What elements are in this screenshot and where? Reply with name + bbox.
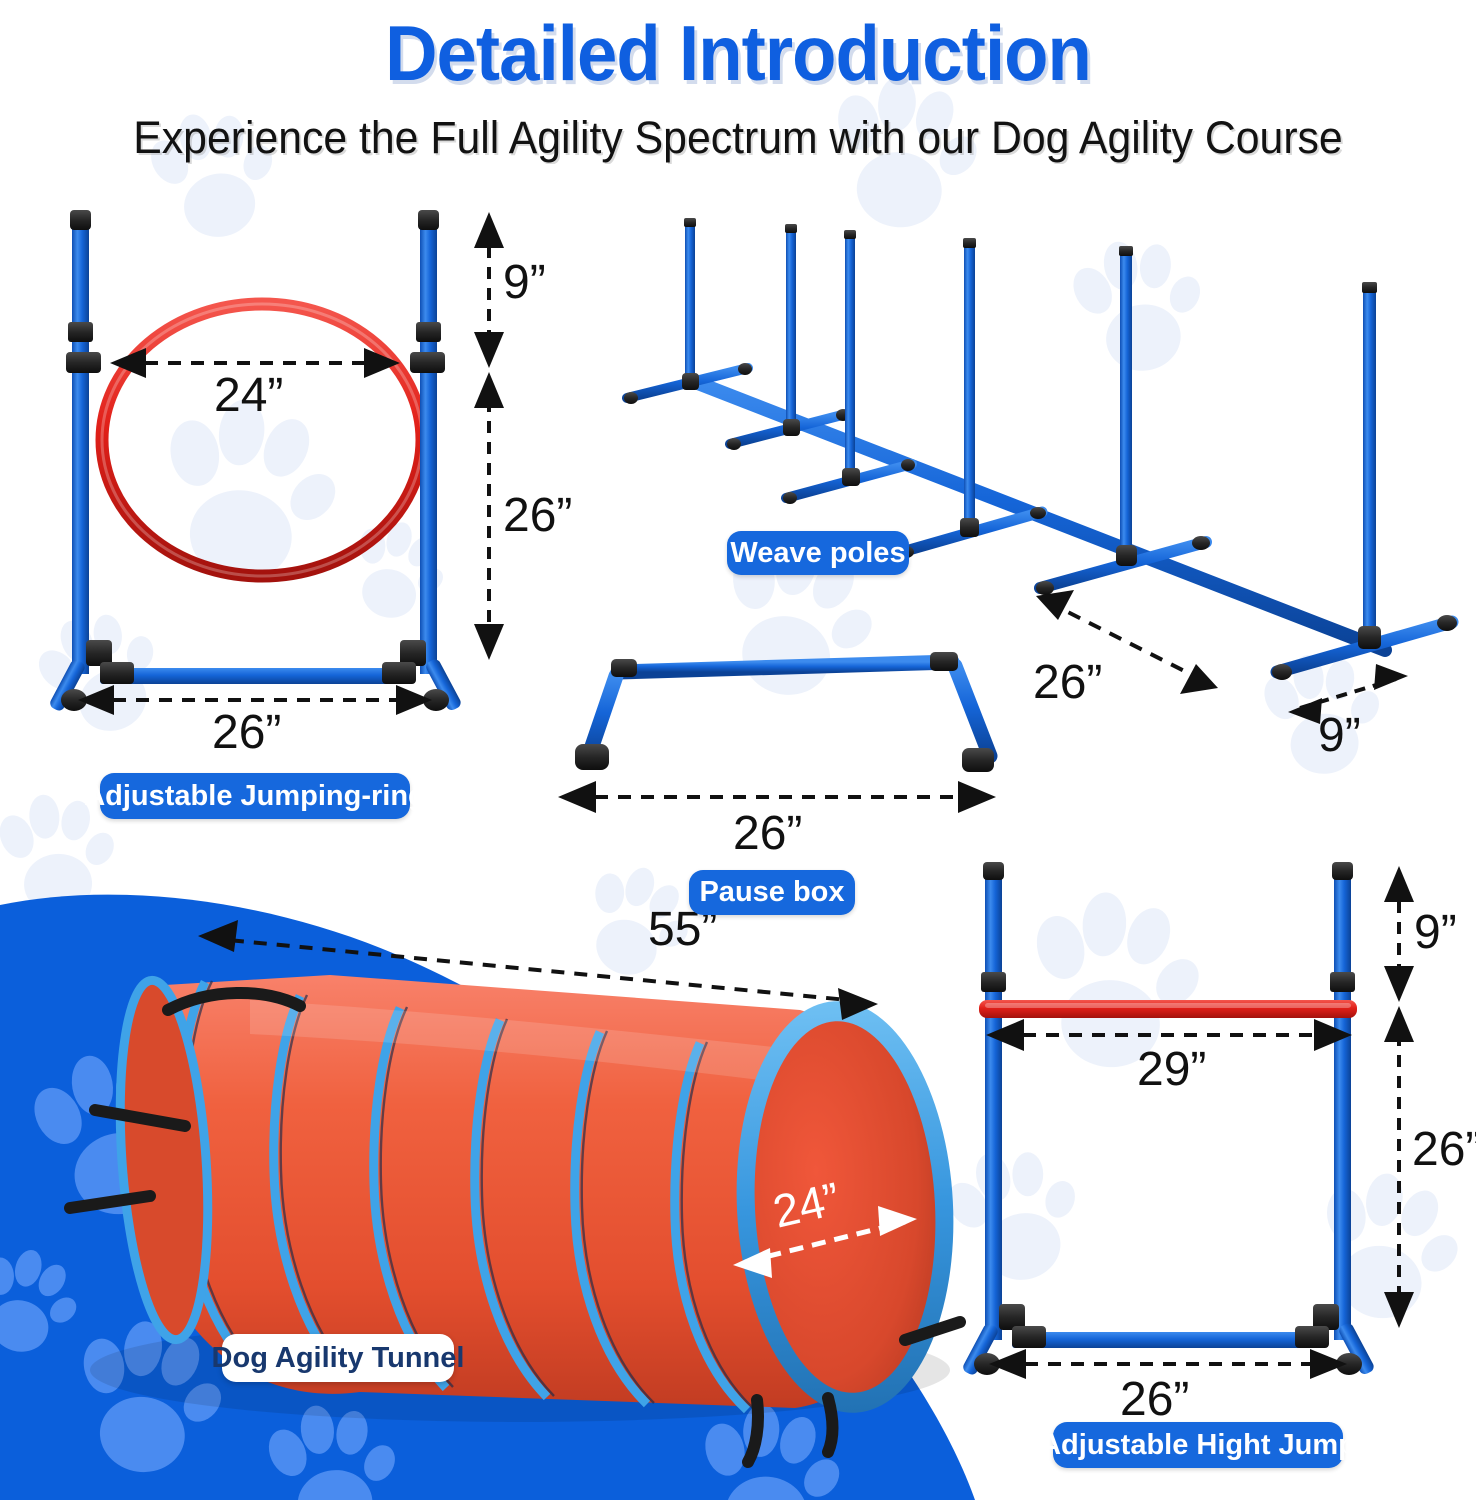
jump-left-post — [985, 872, 1002, 1340]
jump-red-bar-highlight — [985, 1003, 1351, 1008]
jump-right-post-cap — [1332, 862, 1353, 880]
dim-jump-bar-width: 29” — [1137, 1042, 1206, 1097]
jump-right-post — [1334, 872, 1351, 1340]
dim-jump-top-gap: 9” — [1414, 905, 1457, 960]
label-adjustable-hight-jump[interactable]: Adjustable Hight Jump — [1053, 1422, 1343, 1468]
dim-jump-bar-height: 26” — [1412, 1122, 1476, 1177]
jump-height-dimension — [1384, 866, 1414, 1328]
jump-base-bar — [1012, 1332, 1324, 1348]
height-jump-apparatus — [961, 862, 1376, 1377]
height-jump-scene — [0, 0, 1476, 1500]
jump-base-right-tee — [1295, 1326, 1329, 1348]
dim-jump-base-width: 26” — [1120, 1372, 1189, 1427]
jump-red-bar — [979, 1000, 1357, 1018]
jump-right-clip — [1330, 972, 1355, 992]
jump-left-post-cap — [983, 862, 1004, 880]
infographic-canvas: Detailed Introduction Experience the Ful… — [0, 0, 1476, 1500]
jump-left-clip — [981, 972, 1006, 992]
jump-base-left-tee — [1012, 1326, 1046, 1348]
